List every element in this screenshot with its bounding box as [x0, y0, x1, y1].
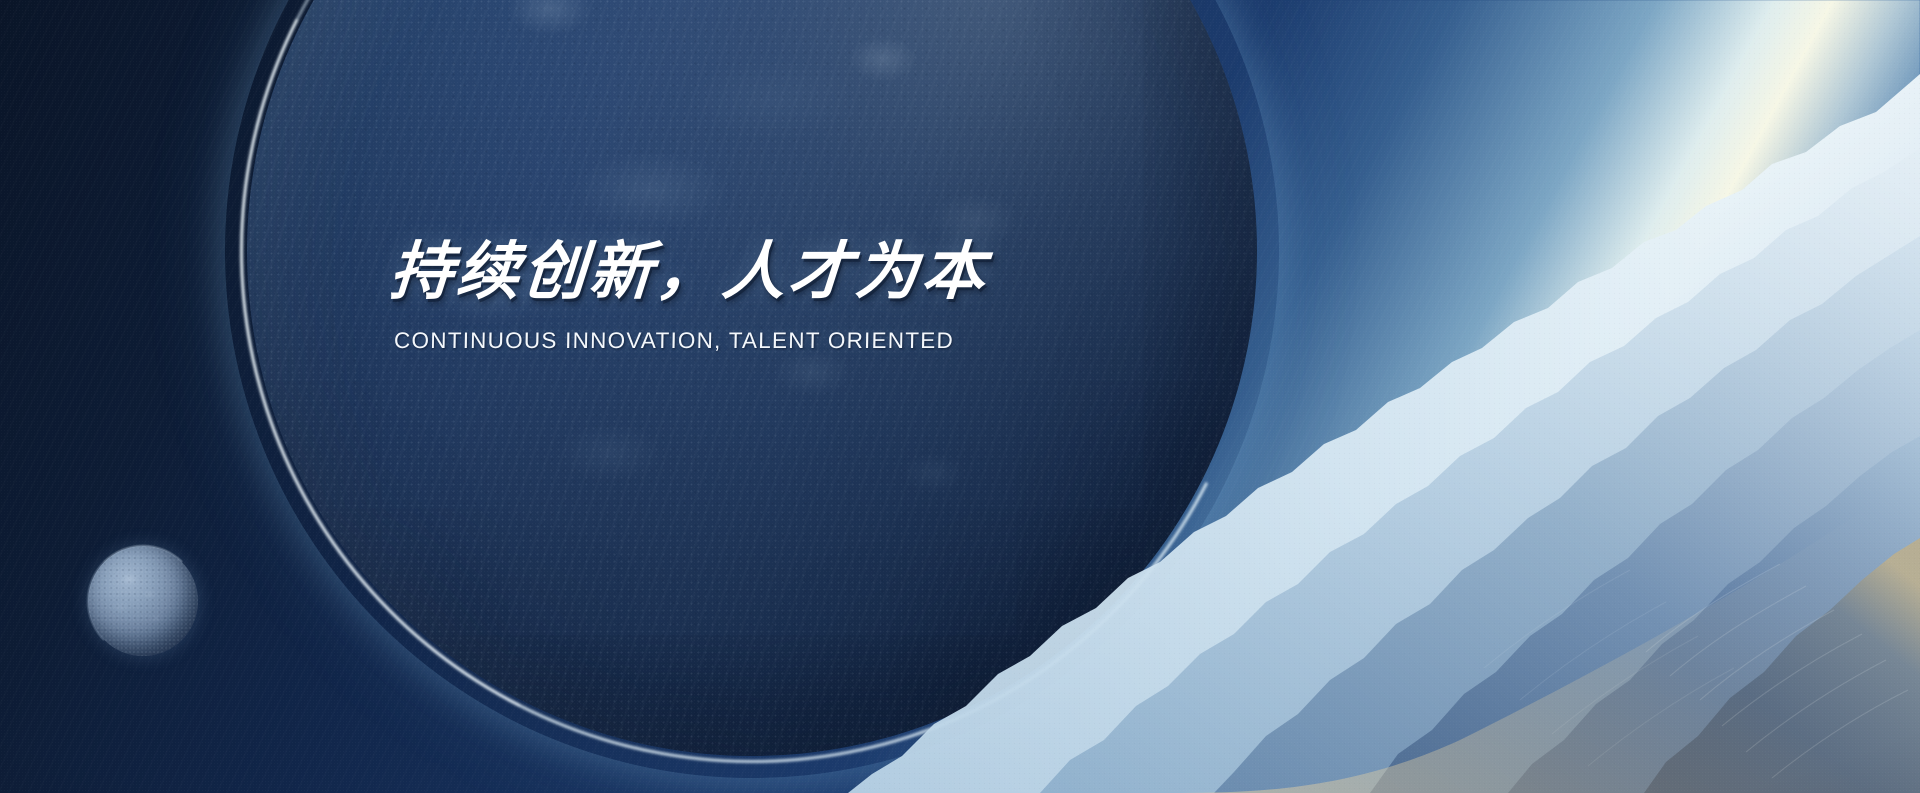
banner-subheadline-english: CONTINUOUS INNOVATION, TALENT ORIENTED	[394, 328, 1090, 354]
banner-headline-chinese: 持续创新，人才为本	[388, 236, 1093, 307]
banner-copy: 持续创新，人才为本 CONTINUOUS INNOVATION, TALENT …	[390, 236, 1090, 354]
hero-banner: 持续创新，人才为本 CONTINUOUS INNOVATION, TALENT …	[0, 0, 1920, 793]
vignette	[0, 0, 1920, 793]
